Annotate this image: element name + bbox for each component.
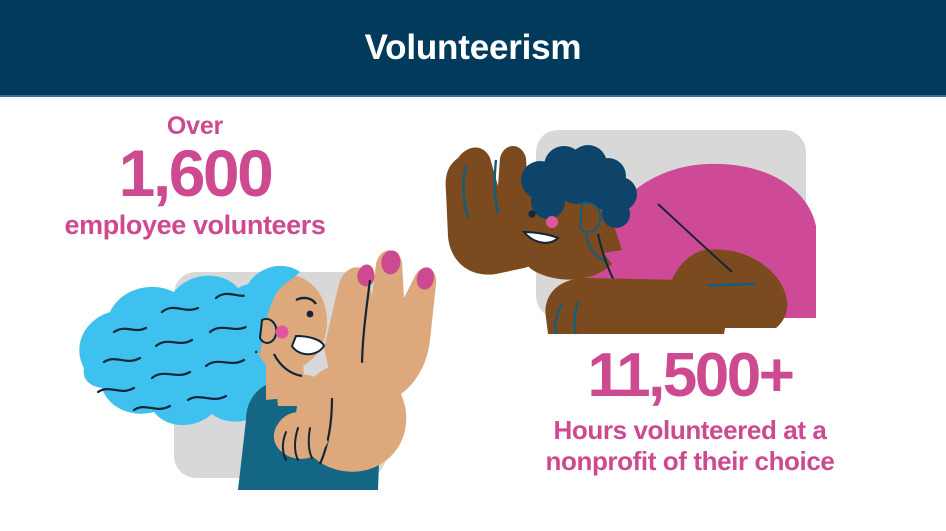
cheek-blush	[546, 216, 558, 228]
stat-hours-volunteered-caption: Hours volunteered at a nonprofit of thei…	[440, 415, 940, 476]
stat-hours-volunteered-caption-line-2: nonprofit of their choice	[440, 446, 940, 477]
person-waving-illustration	[436, 122, 816, 334]
stat-hours-volunteered-caption-line-1: Hours volunteered at a	[440, 415, 940, 446]
ear-shape	[580, 203, 600, 232]
eye	[307, 311, 314, 318]
header-divider	[0, 95, 946, 97]
slide-canvas: Volunteerism Over 1,600 employee volunte…	[0, 0, 946, 531]
ear-shape	[260, 319, 276, 343]
stat-hours-volunteered-value: 11,500+	[440, 345, 940, 407]
person-cheering-illustration	[70, 228, 430, 490]
cheek-blush	[276, 326, 289, 339]
eye	[528, 210, 535, 217]
stat-employee-volunteers-value: 1,600	[0, 140, 390, 206]
lower-arm	[545, 278, 726, 334]
page-title: Volunteerism	[0, 0, 946, 95]
